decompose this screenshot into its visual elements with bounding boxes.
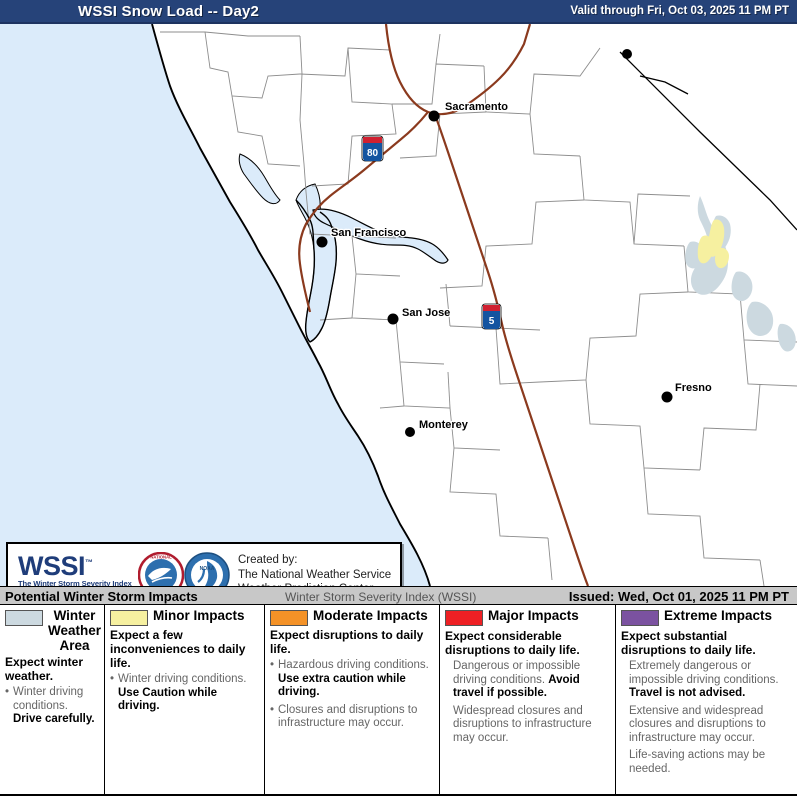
bullet-plain: Life-saving actions may be needed. <box>629 749 765 775</box>
legend-title: Moderate Impacts <box>313 608 428 623</box>
svg-text:NOAA: NOAA <box>200 566 215 572</box>
bullet-plain: Widespread closures and disruptions to i… <box>453 705 592 744</box>
noaa-seal-icon: NOAA <box>184 552 230 586</box>
legend-bullet: Life-saving actions may be needed. <box>621 749 792 776</box>
valid-through-text: Valid through Fri, Oct 03, 2025 11 PM PT <box>570 5 789 17</box>
city-dot-monterey <box>405 427 415 437</box>
created-by-line1: Created by: <box>238 553 391 568</box>
city-label-monterey: Monterey <box>419 419 469 431</box>
wssi-subtitle: The Winter Storm Severity Index <box>18 579 136 586</box>
city-dot-san-francisco <box>317 237 328 248</box>
legend-header: Minor Impacts <box>110 608 259 626</box>
legend-bullet: Winter driving conditions. Use Caution w… <box>110 673 259 714</box>
highway-shield-80: 80 <box>362 136 383 161</box>
legend-bullet: Closures and disruptions to infrastructu… <box>270 704 434 731</box>
bullet-bold: Travel is not advised. <box>629 687 745 699</box>
legend-title: Extreme Impacts <box>664 608 772 623</box>
bullet-plain: Hazardous driving conditions. <box>278 659 429 671</box>
bullet-bold: Drive carefully. <box>13 713 95 725</box>
legend-bullet: Winter driving conditions. Drive careful… <box>5 686 99 727</box>
wssi-logo-box: WSSI™ The Winter Storm Severity Index NA… <box>6 542 402 586</box>
map-graphic: 80 5 Sacramento San Francisco San Jose M… <box>0 24 797 586</box>
legend-intro: Expect substantial disruptions to daily … <box>621 629 792 657</box>
created-by-line3: Weather Prediction Center <box>238 582 391 586</box>
legend-swatch-winter-weather-area <box>5 610 43 626</box>
legend-title-bar: Potential Winter Storm Impacts Winter St… <box>0 586 797 605</box>
wssi-map-page: WSSI Snow Load -- Day2 Valid through Fri… <box>0 0 797 797</box>
legend-bullet: Extensive and widespread closures and di… <box>621 705 792 746</box>
map-canvas[interactable]: 80 5 Sacramento San Francisco San Jose M… <box>0 24 797 586</box>
legend-intro: Expect disruptions to daily life. <box>270 628 434 656</box>
legend-header: Moderate Impacts <box>270 608 434 626</box>
created-by-block: Created by: The National Weather Service… <box>238 553 391 586</box>
bullet-plain: Extensive and widespread closures and di… <box>629 705 766 744</box>
page-title: WSSI Snow Load -- Day2 <box>78 3 259 20</box>
legend-bullet: Hazardous driving conditions. Use extra … <box>270 659 434 700</box>
legend-bar-center-text: Winter Storm Severity Index (WSSI) <box>285 590 476 604</box>
legend-swatch-extreme-impacts <box>621 610 659 626</box>
legend-title: Winter Weather Area <box>48 608 101 653</box>
city-dot-fresno <box>662 392 673 403</box>
legend-title: Major Impacts <box>488 608 579 623</box>
legend-bar-left-title: Potential Winter Storm Impacts <box>5 589 198 604</box>
legend-intro: Expect considerable disruptions to daily… <box>445 629 610 657</box>
city-dot-unlabeled-north <box>622 49 632 59</box>
legend-column-moderate-impacts[interactable]: Moderate Impacts Expect disruptions to d… <box>265 605 440 796</box>
legend-bullet: Extremely dangerous or impossible drivin… <box>621 660 792 701</box>
legend-panel: Potential Winter Storm Impacts Winter St… <box>0 586 797 797</box>
city-label-san-jose: San Jose <box>402 307 450 319</box>
legend-bullets: Extremely dangerous or impossible drivin… <box>621 660 792 776</box>
legend-bullets: Hazardous driving conditions. Use extra … <box>270 659 434 731</box>
legend-swatch-moderate-impacts <box>270 610 308 626</box>
legend-bullets: Winter driving conditions. Use Caution w… <box>110 673 259 714</box>
legend-intro: Expect winter weather. <box>5 655 99 683</box>
city-label-san-francisco: San Francisco <box>331 227 406 239</box>
legend-title: Minor Impacts <box>153 608 245 623</box>
bullet-plain: Extremely dangerous or impossible drivin… <box>629 660 779 686</box>
legend-column-major-impacts[interactable]: Major Impacts Expect considerable disrup… <box>440 605 616 796</box>
wssi-logomark: WSSI™ The Winter Storm Severity Index <box>18 549 136 586</box>
city-label-fresno: Fresno <box>675 382 712 394</box>
city-dot-sacramento <box>429 111 440 122</box>
wssi-wordmark: WSSI™ <box>18 549 136 580</box>
wssi-wordmark-text: WSSI <box>18 551 85 581</box>
legend-column-minor-impacts[interactable]: Minor Impacts Expect a few inconvenience… <box>105 605 265 796</box>
legend-header: Major Impacts <box>445 608 610 626</box>
legend-swatch-minor-impacts <box>110 610 148 626</box>
highway-shield-5: 5 <box>482 304 501 329</box>
bullet-plain: Winter driving conditions. <box>13 686 83 712</box>
legend-column-winter-weather-area[interactable]: Winter Weather Area Expect winter weathe… <box>0 605 105 796</box>
bullet-plain: Closures and disruptions to infrastructu… <box>278 704 417 730</box>
city-label-sacramento: Sacramento <box>445 101 508 113</box>
legend-column-extreme-impacts[interactable]: Extreme Impacts Expect substantial disru… <box>616 605 797 796</box>
trademark-symbol: ™ <box>85 558 93 567</box>
legend-bullet: Dangerous or impossible driving conditio… <box>445 660 610 701</box>
header-bar: WSSI Snow Load -- Day2 Valid through Fri… <box>0 0 797 24</box>
legend-bullets: Dangerous or impossible driving conditio… <box>445 660 610 745</box>
national-weather-service-seal-icon: NATIONAL WEATHER SERVICE <box>138 552 184 586</box>
legend-bullet: Widespread closures and disruptions to i… <box>445 705 610 746</box>
created-by-line2: The National Weather Service <box>238 568 391 583</box>
legend-bar-issued-text: Issued: Wed, Oct 01, 2025 11 PM PT <box>569 589 789 604</box>
legend-intro: Expect a few inconveniences to daily lif… <box>110 628 259 670</box>
city-dot-san-jose <box>388 314 399 325</box>
legend-header: Winter Weather Area <box>5 608 99 653</box>
svg-text:NATIONAL: NATIONAL <box>150 555 172 560</box>
bullet-plain: Winter driving conditions. <box>118 673 246 685</box>
bullet-bold: Use extra caution while driving. <box>278 673 406 699</box>
legend-header: Extreme Impacts <box>621 608 792 626</box>
legend-columns: Winter Weather Area Expect winter weathe… <box>0 605 797 796</box>
legend-swatch-major-impacts <box>445 610 483 626</box>
svg-text:5: 5 <box>489 316 495 327</box>
bullet-bold: Use Caution while driving. <box>118 687 217 713</box>
legend-bullets: Winter driving conditions. Drive careful… <box>5 686 99 727</box>
svg-text:80: 80 <box>367 148 379 159</box>
